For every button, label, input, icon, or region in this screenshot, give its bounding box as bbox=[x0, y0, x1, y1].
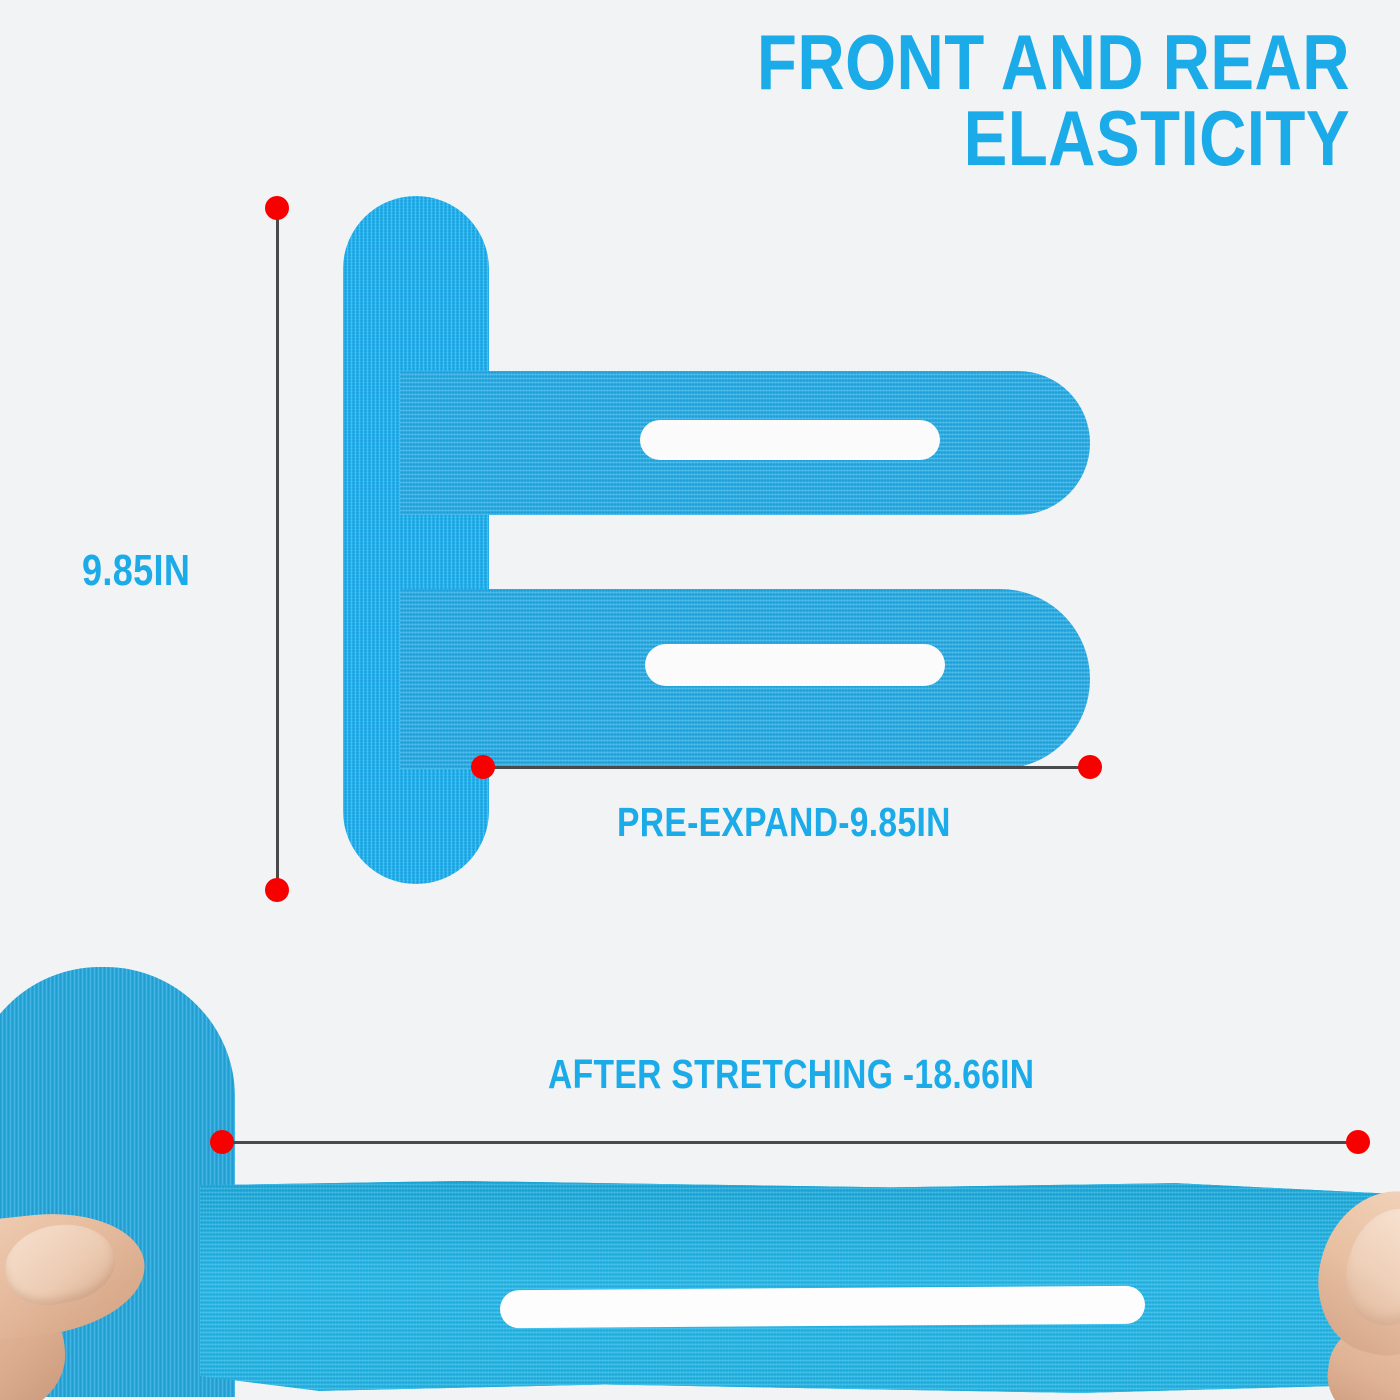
page-title: FRONT AND REAR ELASTICITY bbox=[745, 24, 1350, 177]
tape-stem bbox=[343, 196, 489, 884]
pre-expand-rule-line bbox=[483, 766, 1090, 769]
tape-stretched-view bbox=[0, 955, 1400, 1400]
left-hand-icon bbox=[0, 1215, 180, 1400]
infographic-canvas: FRONT AND REAR ELASTICITY 9.85IN PRE-EXP… bbox=[0, 0, 1400, 1400]
after-stretch-rule-line bbox=[222, 1141, 1358, 1144]
after-stretch-marker-left bbox=[210, 1130, 234, 1154]
height-marker-bottom bbox=[265, 878, 289, 902]
height-rule-line bbox=[276, 208, 279, 890]
height-label: 9.85IN bbox=[82, 546, 190, 596]
pre-expand-marker-right bbox=[1078, 755, 1102, 779]
after-stretch-marker-right bbox=[1346, 1130, 1370, 1154]
tape-stretched-strip bbox=[200, 1181, 1390, 1393]
tape-stretched-slit bbox=[500, 1286, 1145, 1329]
tape-slit-lower bbox=[645, 644, 945, 686]
pre-expand-marker-left bbox=[471, 755, 495, 779]
title-line-1: FRONT AND REAR bbox=[745, 24, 1350, 100]
height-marker-top bbox=[265, 196, 289, 220]
right-hand-icon bbox=[1300, 1190, 1400, 1400]
pre-expand-label: PRE-EXPAND-9.85IN bbox=[617, 799, 951, 846]
tape-slit-upper bbox=[640, 420, 940, 460]
title-line-2: ELASTICITY bbox=[745, 100, 1350, 176]
after-stretch-label: AFTER STRETCHING -18.66IN bbox=[548, 1051, 1034, 1098]
